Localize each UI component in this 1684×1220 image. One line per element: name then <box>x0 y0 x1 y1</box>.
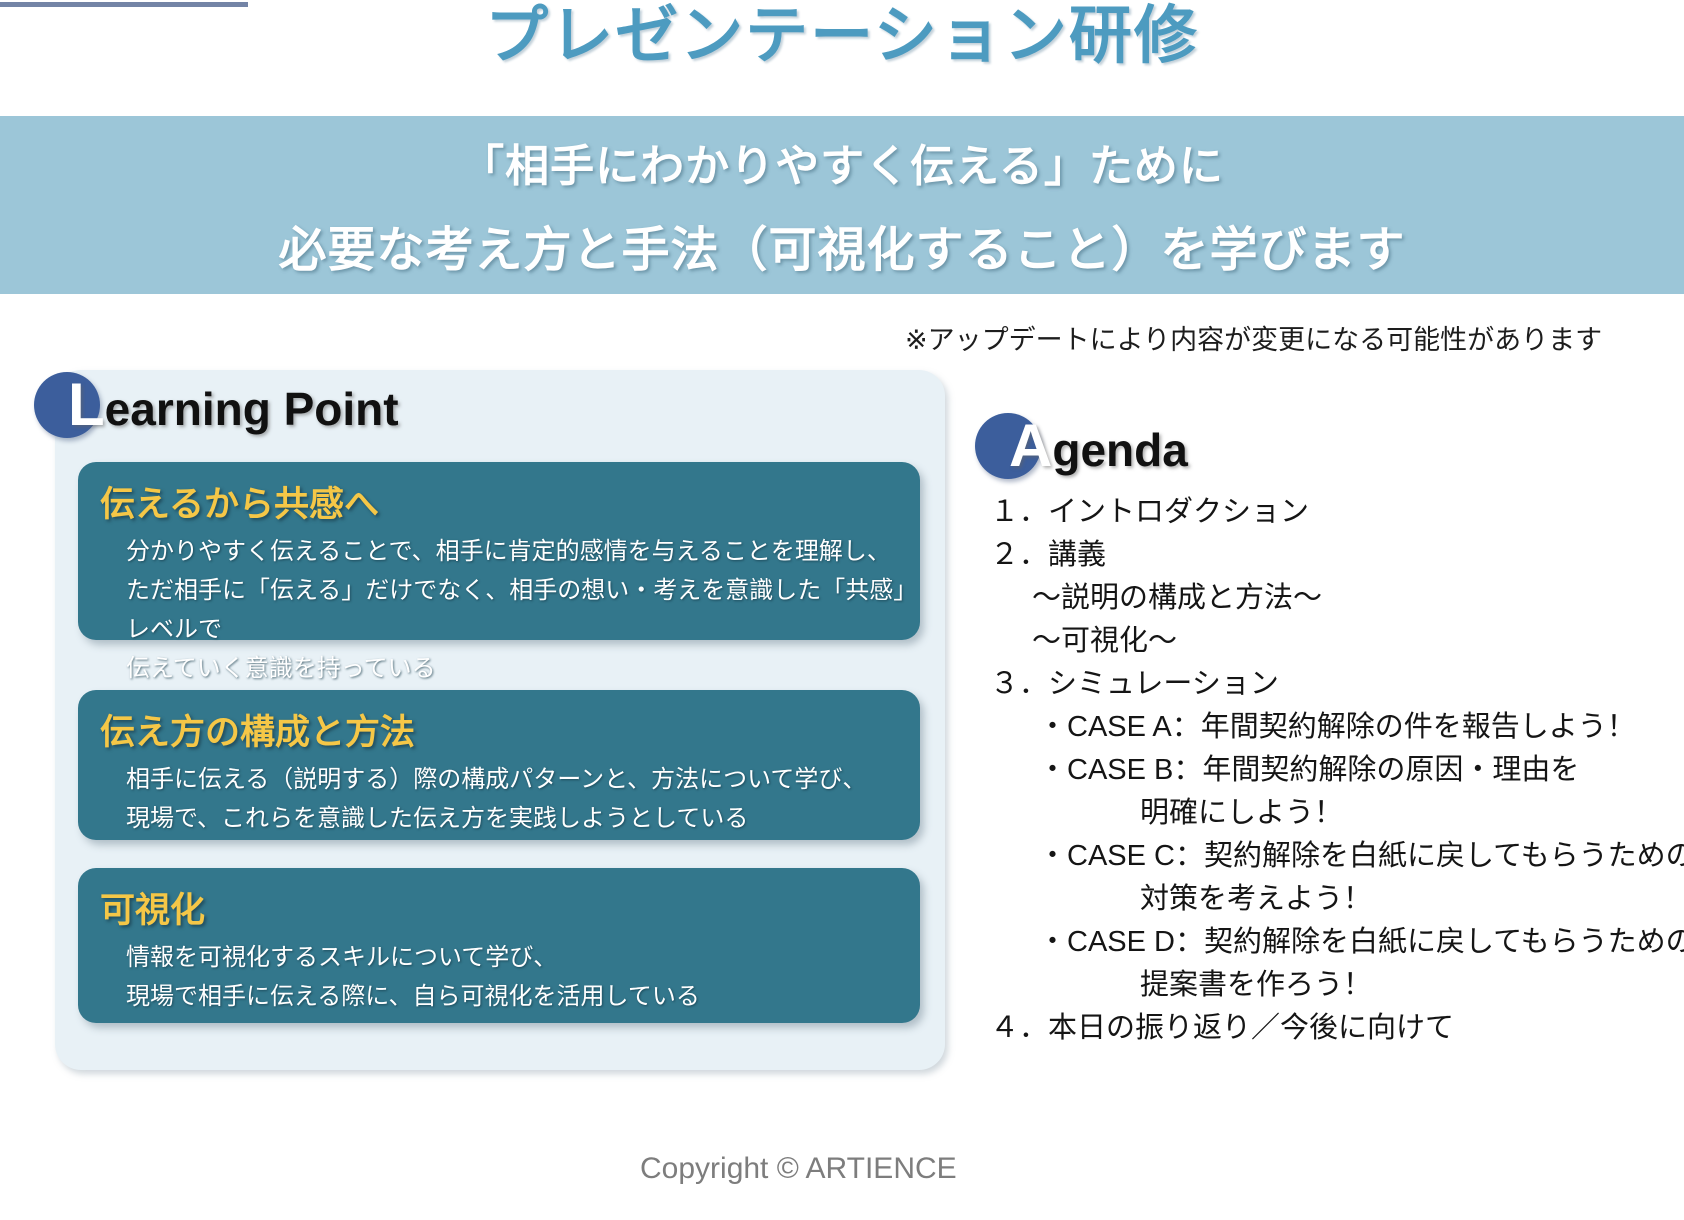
update-note: ※アップデートにより内容が変更になる可能性があります <box>905 318 1602 357</box>
agenda-list: １．イントロダクション ２．講義 〜説明の構成と方法〜 〜可視化〜 ３．シミュレ… <box>990 498 1650 1057</box>
learning-point-initial: L <box>68 371 105 438</box>
slide-canvas: プレゼンテーション研修 「相手にわかりやすく伝える」ために 必要な考え方と手法（… <box>0 0 1684 1220</box>
learning-card: 伝え方の構成と方法 相手に伝える（説明する）際の構成パターンと、方法について学び… <box>78 690 920 840</box>
agenda-item: 対策を考えよう！ <box>990 885 1650 914</box>
learning-card-title: 伝え方の構成と方法 <box>78 704 920 755</box>
banner-line-2: 必要な考え方と手法（可視化すること）を学びます <box>278 210 1405 280</box>
copyright-notice: Copyright © ARTIENCE <box>640 1152 957 1186</box>
learning-card: 伝えるから共感へ 分かりやすく伝えることで、相手に肯定的感情を与えることを理解し… <box>78 462 920 640</box>
learning-card-line: ただ相手に「伝える」だけでなく、相手の想い・考えを意識した「共感」レベルで <box>126 572 920 650</box>
banner-line-1: 「相手にわかりやすく伝える」ために <box>460 130 1224 194</box>
agenda-initial: A <box>1009 412 1052 479</box>
learning-card-title: 伝えるから共感へ <box>78 476 920 527</box>
agenda-heading-rest: genda <box>1052 424 1187 476</box>
learning-point-heading-rest: earning Point <box>105 383 399 435</box>
subtitle-banner: 「相手にわかりやすく伝える」ために 必要な考え方と手法（可視化すること）を学びま… <box>0 116 1684 294</box>
agenda-item: １．イントロダクション <box>990 498 1650 527</box>
agenda-item: 明確にしよう！ <box>990 799 1650 828</box>
agenda-heading: Agenda <box>975 413 1188 483</box>
learning-card-line: 現場で相手に伝える際に、自ら可視化を活用している <box>126 978 920 1017</box>
agenda-item: ２．講義 <box>990 541 1650 570</box>
learning-card: 可視化 情報を可視化するスキルについて学び、 現場で相手に伝える際に、自ら可視化… <box>78 868 920 1023</box>
page-title: プレゼンテーション研修 <box>0 0 1684 72</box>
learning-point-heading: Learning Point <box>34 372 399 442</box>
agenda-item: 提案書を作ろう！ <box>990 971 1650 1000</box>
learning-card-line: 情報を可視化するスキルについて学び、 <box>126 939 920 978</box>
agenda-item: 〜説明の構成と方法〜 <box>990 584 1650 613</box>
agenda-item: ・CASE D：契約解除を白紙に戻してもらうための <box>990 928 1650 957</box>
learning-card-line: 相手に伝える（説明する）際の構成パターンと、方法について学び、 <box>126 761 920 800</box>
agenda-item: 〜可視化〜 <box>990 627 1650 656</box>
learning-card-line: 現場で、これらを意識した伝え方を実践しようとしている <box>126 800 920 839</box>
agenda-item: ・CASE C：契約解除を白紙に戻してもらうための <box>990 842 1650 871</box>
learning-card-body: 相手に伝える（説明する）際の構成パターンと、方法について学び、 現場で、これらを… <box>78 761 920 839</box>
agenda-item: ４．本日の振り返り／今後に向けて <box>990 1014 1650 1043</box>
learning-point-heading-text: Learning Point <box>34 372 399 442</box>
learning-card-line: 分かりやすく伝えることで、相手に肯定的感情を与えることを理解し、 <box>126 533 920 572</box>
agenda-item: ・CASE B：年間契約解除の原因・理由を <box>990 756 1650 785</box>
agenda-item: ・CASE A：年間契約解除の件を報告しよう！ <box>990 713 1650 742</box>
agenda-heading-text: Agenda <box>975 413 1188 483</box>
learning-card-title: 可視化 <box>78 882 920 933</box>
agenda-item: ３．シミュレーション <box>990 670 1650 699</box>
learning-card-line: 伝えていく意識を持っている <box>126 650 920 689</box>
learning-card-body: 情報を可視化するスキルについて学び、 現場で相手に伝える際に、自ら可視化を活用し… <box>78 939 920 1017</box>
learning-card-body: 分かりやすく伝えることで、相手に肯定的感情を与えることを理解し、 ただ相手に「伝… <box>78 533 920 689</box>
